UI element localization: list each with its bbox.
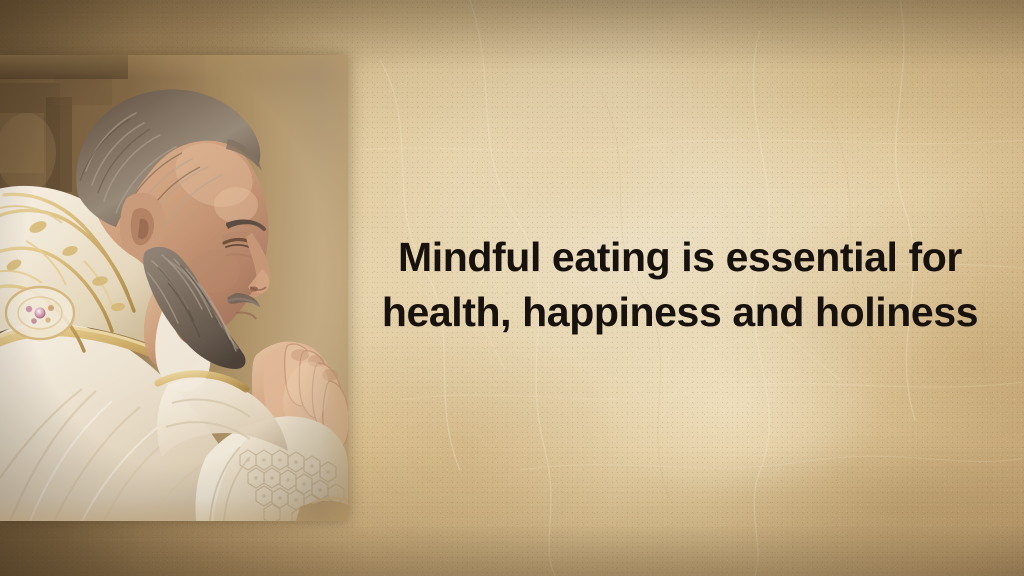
quote-line-2: health, happiness and holiness	[380, 285, 980, 340]
quote-text-block: Mindful eating is essential for health, …	[380, 230, 980, 340]
praying-priest-photo	[0, 55, 348, 521]
quote-slide: Mindful eating is essential for health, …	[0, 0, 1024, 576]
quote-line-1: Mindful eating is essential for	[380, 230, 980, 285]
